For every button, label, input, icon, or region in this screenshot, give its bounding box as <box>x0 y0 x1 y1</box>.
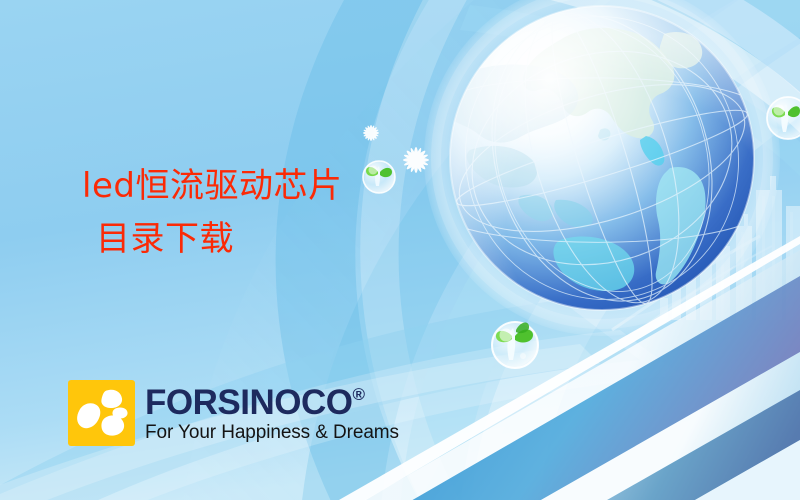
headline-line-2: 目录下载 <box>82 213 342 266</box>
bubble-sprout-right-edge <box>767 97 800 139</box>
sparkle-flower-large <box>403 147 429 173</box>
page-title: led恒流驱动芯片 目录下载 <box>82 160 342 265</box>
brand-name-text: FORSINOCO <box>145 385 352 420</box>
brand-tagline: For Your Happiness & Dreams <box>145 423 399 442</box>
sparkle-flower-small <box>363 125 379 141</box>
bubble-sprout-lower <box>492 322 538 368</box>
logo-wordmark: FORSINOCO® For Your Happiness & Dreams <box>145 385 399 442</box>
registered-trademark-icon: ® <box>352 386 364 403</box>
promo-banner: led恒流驱动芯片 目录下载 FORSINOCO® <box>0 0 800 500</box>
brand-logo[interactable]: FORSINOCO® For Your Happiness & Dreams <box>68 380 399 446</box>
forsinoco-pinwheel-mark <box>68 380 135 446</box>
headline-line-1: led恒流驱动芯片 <box>82 166 342 206</box>
pinwheel-petals-icon <box>68 380 135 446</box>
brand-name: FORSINOCO® <box>145 385 399 420</box>
bubble-sprout-upper-left <box>363 161 395 193</box>
